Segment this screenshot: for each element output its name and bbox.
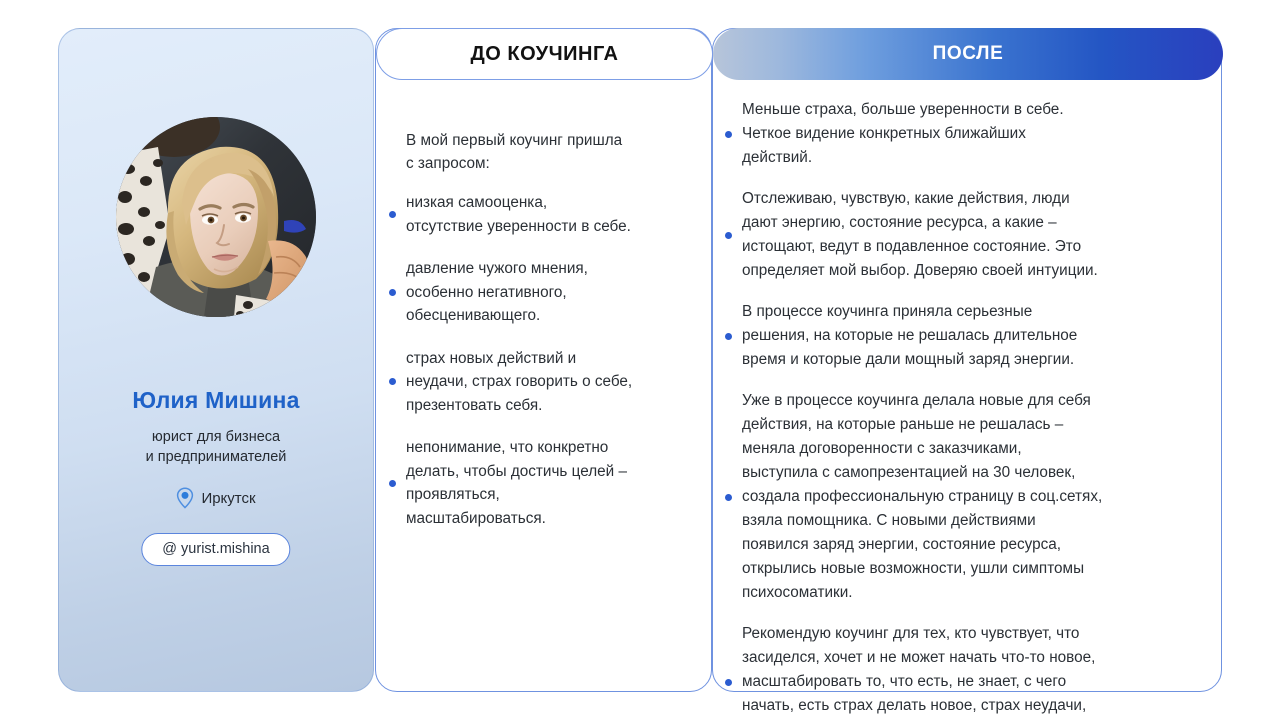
list-item: Уже в процессе коучинга делала новые для… xyxy=(725,389,1207,605)
list-item: Рекомендую коучинг для тех, кто чувствуе… xyxy=(725,622,1207,720)
avatar xyxy=(116,117,316,317)
before-card-body: В мой первый коучинг пришла с запросом: … xyxy=(376,81,711,691)
bullet-dot-icon xyxy=(725,494,732,501)
profile-role-line1: юрист для бизнеса xyxy=(59,427,373,447)
bullet-dot-icon xyxy=(725,131,732,138)
after-bullet-list: Меньше страха, больше уверенности в себе… xyxy=(725,98,1207,720)
before-card: ДО КОУЧИНГА В мой первый коучинг пришла … xyxy=(375,28,712,692)
instagram-handle-badge[interactable]: @ yurist.mishina xyxy=(141,533,290,566)
bullet-text: Меньше страха, больше уверенности в себе… xyxy=(742,98,1064,170)
after-card: ПОСЛЕ Меньше страха, больше уверенности … xyxy=(712,28,1222,692)
after-card-body: Меньше страха, больше уверенности в себе… xyxy=(713,81,1221,691)
list-item: В процессе коучинга приняла серьезные ре… xyxy=(725,300,1207,372)
after-card-header: ПОСЛЕ xyxy=(713,28,1223,80)
bullet-dot-icon xyxy=(389,378,396,385)
profile-location: Иркутск xyxy=(59,487,373,509)
bullet-text: страх новых действий и неудачи, страх го… xyxy=(406,347,632,418)
list-item: Меньше страха, больше уверенности в себе… xyxy=(725,98,1207,170)
bullet-dot-icon xyxy=(725,232,732,239)
profile-panel: Юлия Мишина юрист для бизнеса и предприн… xyxy=(58,28,374,692)
testimonial-slide: Юлия Мишина юрист для бизнеса и предприн… xyxy=(0,0,1280,720)
list-item: низкая самооценка, отсутствие уверенност… xyxy=(389,191,697,238)
list-item: страх новых действий и неудачи, страх го… xyxy=(389,347,697,418)
bullet-text: В процессе коучинга приняла серьезные ре… xyxy=(742,300,1077,372)
avatar-photo xyxy=(116,117,316,317)
bullet-dot-icon xyxy=(389,211,396,218)
bullet-dot-icon xyxy=(389,480,396,487)
list-item: давление чужого мнения, особенно негатив… xyxy=(389,257,697,328)
bullet-text: давление чужого мнения, особенно негатив… xyxy=(406,257,588,328)
bullet-text: Уже в процессе коучинга делала новые для… xyxy=(742,389,1102,605)
profile-role: юрист для бизнеса и предпринимателей xyxy=(59,427,373,467)
bullet-text: Рекомендую коучинг для тех, кто чувствуе… xyxy=(742,622,1095,720)
before-intro-text: В мой первый коучинг пришла с запросом: xyxy=(406,129,691,175)
bullet-text: Отслеживаю, чувствую, какие действия, лю… xyxy=(742,187,1098,283)
before-card-header: ДО КОУЧИНГА xyxy=(376,28,713,80)
page-title: Юлия Мишина xyxy=(59,387,373,414)
bullet-text: непонимание, что конкретно делать, чтобы… xyxy=(406,436,627,530)
before-bullet-list: низкая самооценка, отсутствие уверенност… xyxy=(389,191,697,549)
list-item: Отслеживаю, чувствую, какие действия, лю… xyxy=(725,187,1207,283)
bullet-dot-icon xyxy=(725,679,732,686)
profile-role-line2: и предпринимателей xyxy=(59,447,373,467)
bullet-dot-icon xyxy=(389,289,396,296)
bullet-dot-icon xyxy=(725,333,732,340)
bullet-text: низкая самооценка, отсутствие уверенност… xyxy=(406,191,631,238)
location-pin-icon xyxy=(176,487,194,509)
list-item: непонимание, что конкретно делать, чтобы… xyxy=(389,436,697,530)
city-label: Иркутск xyxy=(201,490,255,507)
